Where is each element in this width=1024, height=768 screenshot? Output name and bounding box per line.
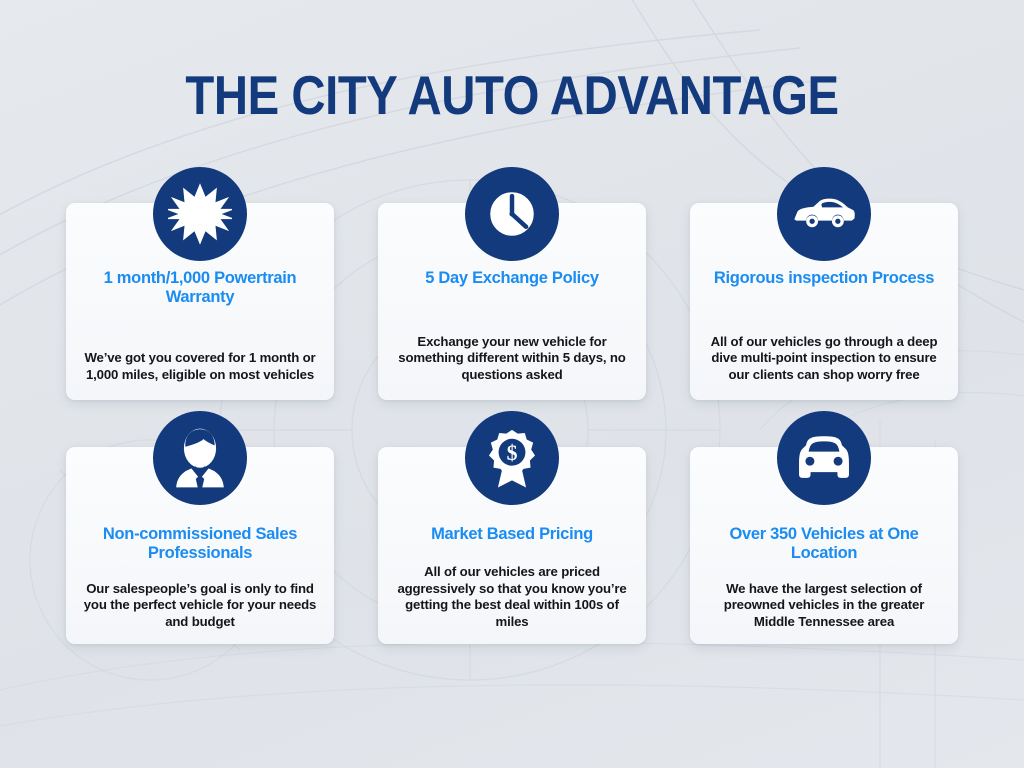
svg-text:$: $ <box>507 441 518 465</box>
clock-icon <box>465 167 559 261</box>
starburst-icon <box>153 167 247 261</box>
car-side-icon <box>777 167 871 261</box>
car-front-icon <box>777 411 871 505</box>
card-heading: Over 350 Vehicles at One Location <box>698 525 950 563</box>
advantage-card-exchange[interactable]: 5 Day Exchange Policy Exchange your new … <box>378 203 646 400</box>
advantage-card-grid: 1 month/1,000 Powertrain Warranty We’ve … <box>66 203 958 644</box>
salesperson-icon <box>153 411 247 505</box>
advantage-card-pricing[interactable]: $ Market Based Pricing All of our vehicl… <box>378 447 646 644</box>
card-heading: Market Based Pricing <box>386 525 638 544</box>
card-heading: 1 month/1,000 Powertrain Warranty <box>74 269 326 307</box>
card-heading: Rigorous inspection Process <box>698 269 950 288</box>
advantage-card-warranty[interactable]: 1 month/1,000 Powertrain Warranty We’ve … <box>66 203 334 400</box>
advantage-card-sales-professionals[interactable]: Non-commissioned Sales Professionals Our… <box>66 447 334 644</box>
infographic-stage: THE CITY AUTO ADVANTAGE 1 month/1,000 Po… <box>0 0 1024 768</box>
page-title: THE CITY AUTO ADVANTAGE <box>72 64 953 126</box>
card-body-text: Our salespeople’s goal is only to find y… <box>78 581 322 630</box>
card-body-text: All of our vehicles are priced aggressiv… <box>390 564 634 630</box>
advantage-card-inventory[interactable]: Over 350 Vehicles at One Location We hav… <box>690 447 958 644</box>
card-body-text: We have the largest selection of preowne… <box>702 581 946 630</box>
card-body-text: All of our vehicles go through a deep di… <box>702 334 946 383</box>
card-body-text: We’ve got you covered for 1 month or 1,0… <box>78 350 322 383</box>
dollar-rosette-icon: $ <box>465 411 559 505</box>
card-heading: Non-commissioned Sales Professionals <box>74 525 326 563</box>
advantage-card-inspection[interactable]: Rigorous inspection Process All of our v… <box>690 203 958 400</box>
card-body-text: Exchange your new vehicle for something … <box>390 334 634 383</box>
card-heading: 5 Day Exchange Policy <box>386 269 638 288</box>
